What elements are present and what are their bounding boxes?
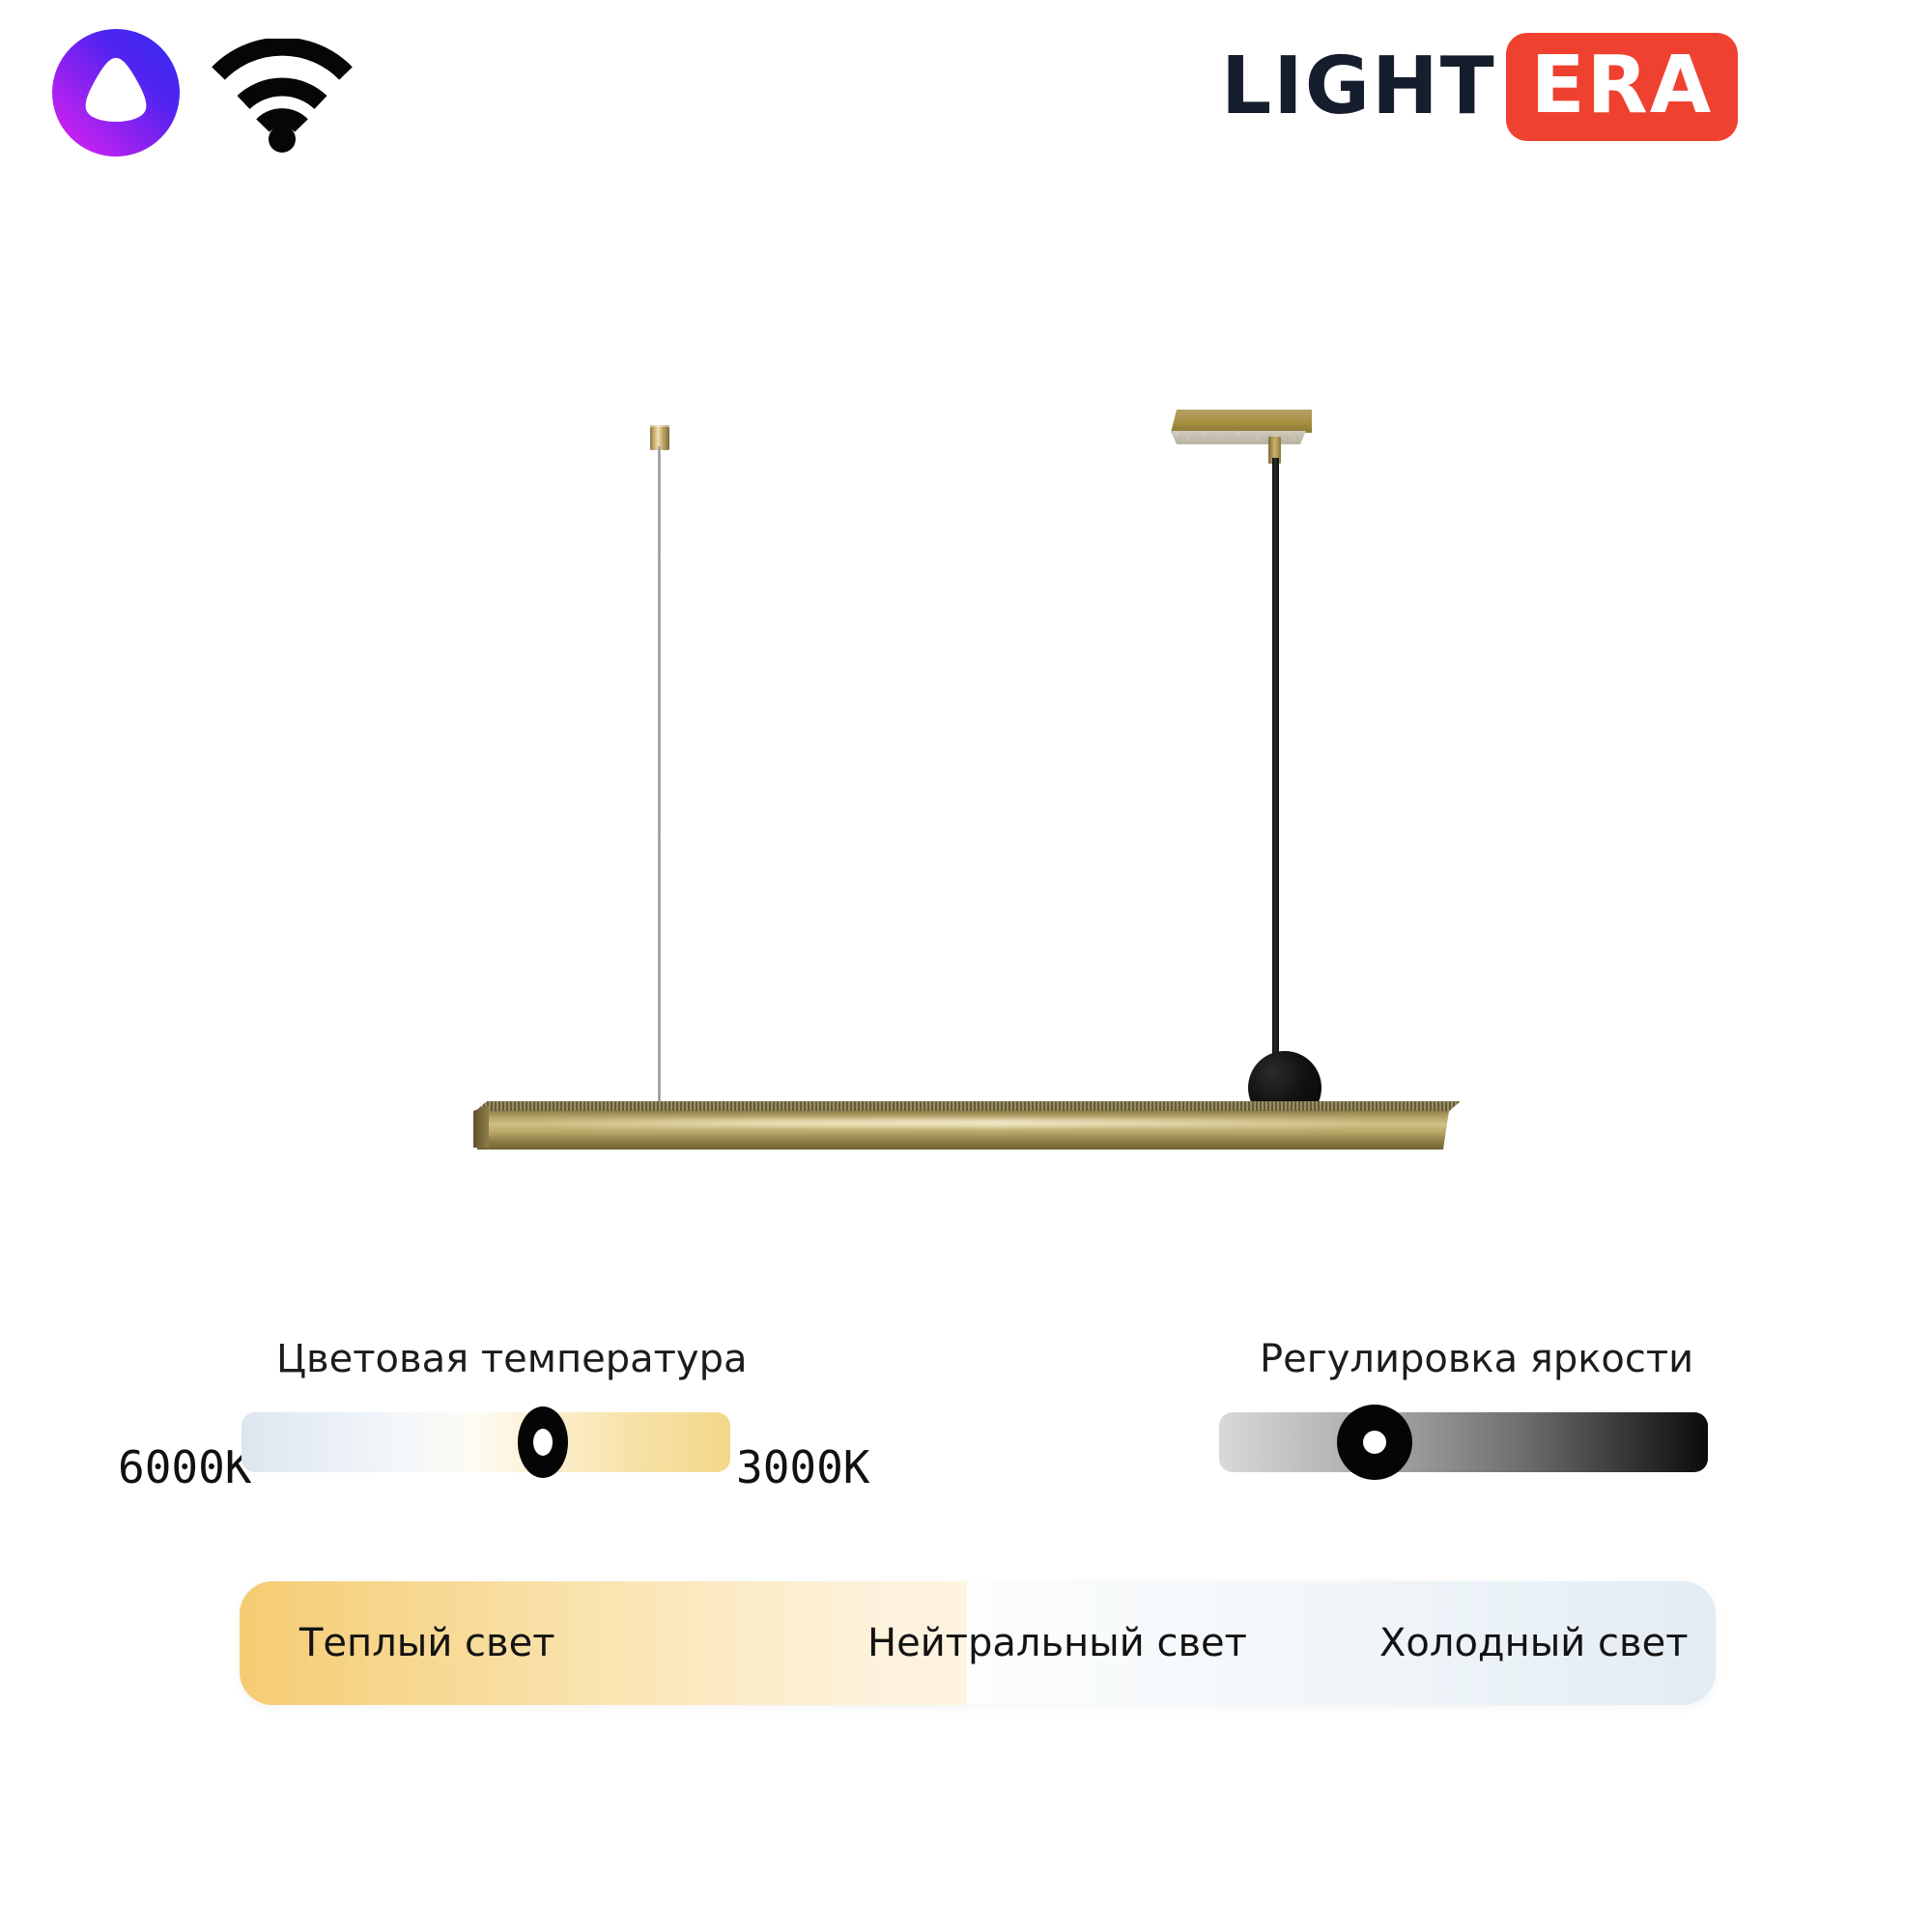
brightness-slider[interactable] <box>1219 1412 1708 1472</box>
color-temperature-min-label: 6000K <box>118 1441 251 1493</box>
brightness-thumb[interactable] <box>1337 1405 1412 1480</box>
canopy-top-face <box>1171 410 1312 433</box>
product-showcase-canvas: LIGHT ERA Цветовая температура 6000K 300… <box>0 0 1932 1932</box>
light-mode-cool[interactable]: Холодный свет <box>1379 1581 1689 1705</box>
black-power-cable <box>1272 458 1279 1066</box>
color-temperature-track[interactable] <box>241 1412 730 1472</box>
light-bar-left-cap <box>473 1105 489 1148</box>
brightness-title: Регулировка яркости <box>1260 1337 1693 1381</box>
pendant-lamp-illustration <box>0 0 1932 1256</box>
light-bar-highlight <box>531 1119 1381 1127</box>
linear-light-bar <box>473 1101 1461 1150</box>
color-temperature-slider[interactable] <box>241 1412 730 1472</box>
canopy-textured-underside <box>1171 431 1306 444</box>
ceiling-canopy-plate <box>1171 410 1312 444</box>
steel-suspension-wire <box>658 446 661 1128</box>
light-mode-selector[interactable]: Теплый свет Нейтральный свет Холодный св… <box>240 1581 1716 1705</box>
light-bar-front-face <box>473 1111 1449 1150</box>
color-temperature-thumb[interactable] <box>518 1406 568 1478</box>
light-mode-neutral[interactable]: Нейтральный свет <box>867 1581 1247 1705</box>
color-temperature-title: Цветовая температура <box>276 1337 748 1381</box>
brightness-track[interactable] <box>1219 1412 1708 1472</box>
light-mode-warm[interactable]: Теплый свет <box>299 1581 555 1705</box>
color-temperature-max-label: 3000K <box>736 1441 869 1493</box>
